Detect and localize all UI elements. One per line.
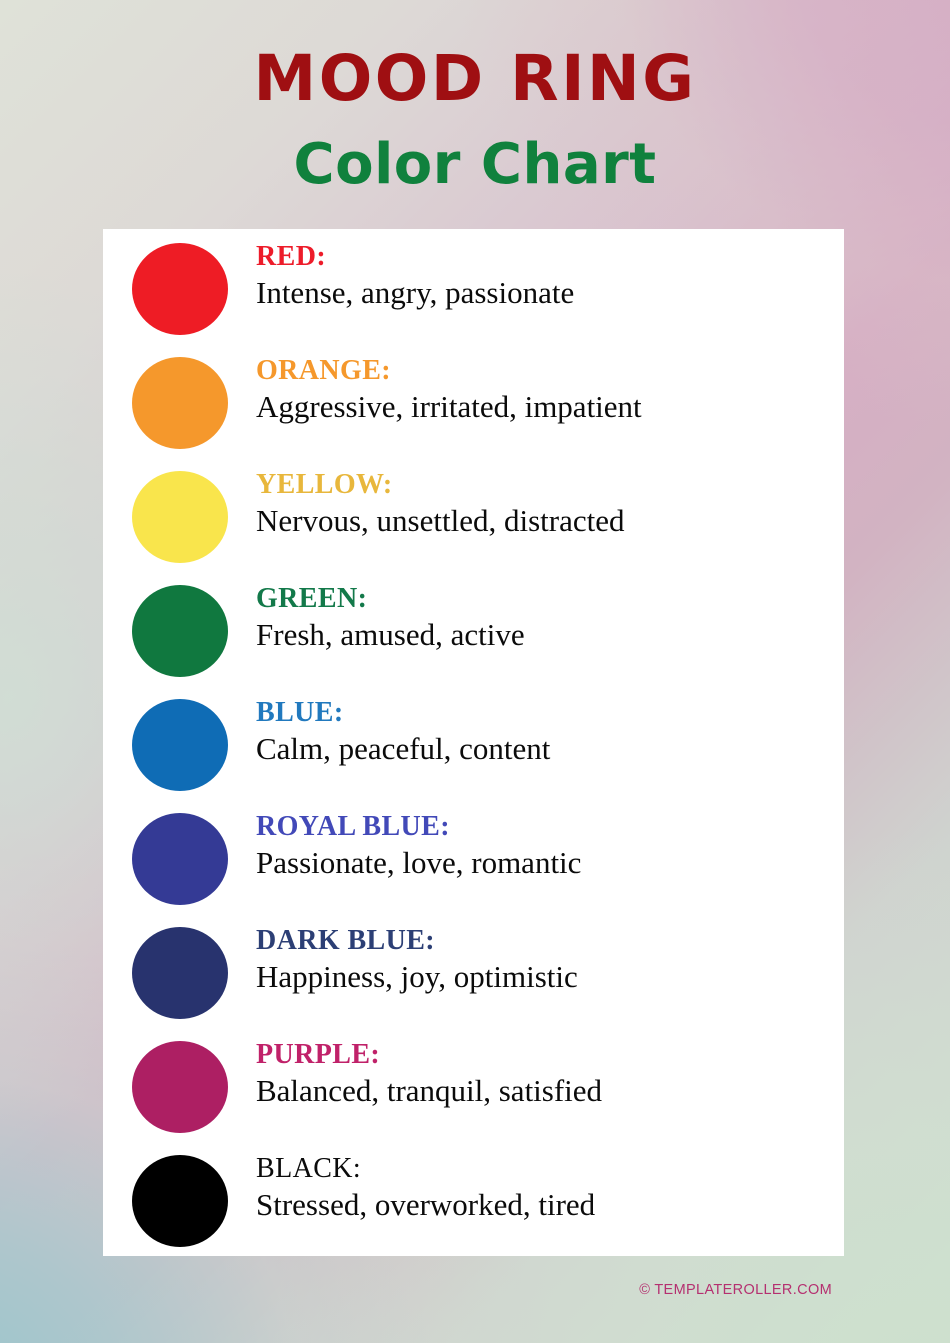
color-swatch-container (103, 571, 256, 677)
color-swatch-circle-icon (132, 1041, 228, 1133)
color-meaning-text: Aggressive, irritated, impatient (256, 388, 844, 425)
color-meaning-text: Fresh, amused, active (256, 616, 844, 653)
table-row: DARK BLUE:Happiness, joy, optimistic (103, 913, 844, 1027)
color-text-block: BLACK:Stressed, overworked, tired (256, 1141, 844, 1223)
color-name-label: BLUE: (256, 697, 844, 729)
color-swatch-container (103, 229, 256, 335)
color-chart-rows: RED:Intense, angry, passionateORANGE:Agg… (103, 229, 844, 1255)
color-text-block: BLUE:Calm, peaceful, content (256, 685, 844, 767)
color-meaning-text: Balanced, tranquil, satisfied (256, 1072, 844, 1109)
color-name-label: ROYAL BLUE: (256, 811, 844, 843)
color-swatch-circle-icon (132, 927, 228, 1019)
table-row: BLUE:Calm, peaceful, content (103, 685, 844, 799)
color-meaning-text: Nervous, unsettled, distracted (256, 502, 844, 539)
color-text-block: GREEN:Fresh, amused, active (256, 571, 844, 653)
color-meaning-text: Intense, angry, passionate (256, 274, 844, 311)
page-subtitle: Color Chart (0, 137, 950, 193)
color-text-block: ORANGE:Aggressive, irritated, impatient (256, 343, 844, 425)
page-header: MOOD RING Color Chart (0, 0, 950, 193)
color-text-block: DARK BLUE:Happiness, joy, optimistic (256, 913, 844, 995)
color-swatch-circle-icon (132, 243, 228, 335)
color-name-label: BLACK: (256, 1153, 844, 1185)
page-root: MOOD RING Color Chart RED:Intense, angry… (0, 0, 950, 1343)
color-meaning-text: Calm, peaceful, content (256, 730, 844, 767)
color-swatch-circle-icon (132, 1155, 228, 1247)
color-name-label: GREEN: (256, 583, 844, 615)
table-row: ROYAL BLUE:Passionate, love, romantic (103, 799, 844, 913)
color-swatch-container (103, 913, 256, 1019)
table-row: PURPLE:Balanced, tranquil, satisfied (103, 1027, 844, 1141)
color-meaning-text: Passionate, love, romantic (256, 844, 844, 881)
color-name-label: YELLOW: (256, 469, 844, 501)
color-text-block: YELLOW:Nervous, unsettled, distracted (256, 457, 844, 539)
page-title: MOOD RING (0, 47, 950, 111)
color-name-label: PURPLE: (256, 1039, 844, 1071)
watermark-templateroller: © TEMPLATEROLLER.COM (639, 1282, 832, 1298)
table-row: BLACK:Stressed, overworked, tired (103, 1141, 844, 1255)
color-swatch-container (103, 1027, 256, 1133)
table-row: YELLOW:Nervous, unsettled, distracted (103, 457, 844, 571)
color-swatch-circle-icon (132, 813, 228, 905)
color-meaning-text: Happiness, joy, optimistic (256, 958, 844, 995)
table-row: GREEN:Fresh, amused, active (103, 571, 844, 685)
color-text-block: ROYAL BLUE:Passionate, love, romantic (256, 799, 844, 881)
table-row: ORANGE:Aggressive, irritated, impatient (103, 343, 844, 457)
table-row: RED:Intense, angry, passionate (103, 229, 844, 343)
color-text-block: RED:Intense, angry, passionate (256, 229, 844, 311)
color-chart-card: RED:Intense, angry, passionateORANGE:Agg… (103, 229, 844, 1256)
color-swatch-circle-icon (132, 471, 228, 563)
color-text-block: PURPLE:Balanced, tranquil, satisfied (256, 1027, 844, 1109)
color-meaning-text: Stressed, overworked, tired (256, 1186, 844, 1223)
color-swatch-container (103, 457, 256, 563)
color-swatch-container (103, 685, 256, 791)
color-swatch-container (103, 343, 256, 449)
color-swatch-circle-icon (132, 357, 228, 449)
color-swatch-container (103, 799, 256, 905)
color-swatch-container (103, 1141, 256, 1247)
color-swatch-circle-icon (132, 585, 228, 677)
color-name-label: ORANGE: (256, 355, 844, 387)
color-name-label: RED: (256, 241, 844, 273)
color-swatch-circle-icon (132, 699, 228, 791)
color-name-label: DARK BLUE: (256, 925, 844, 957)
